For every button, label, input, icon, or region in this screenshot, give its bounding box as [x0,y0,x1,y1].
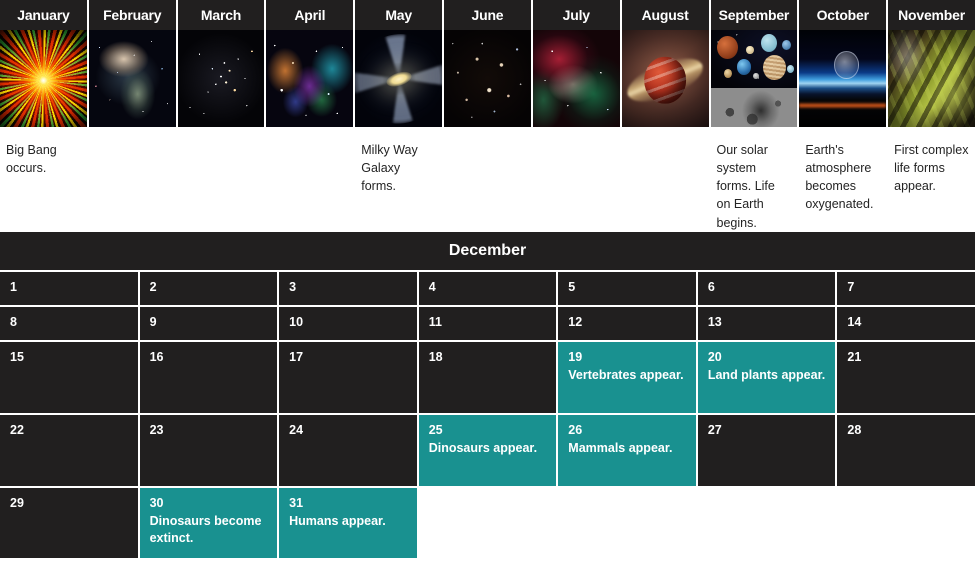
calendar-day-cell[interactable]: 9 [140,307,278,340]
calendar-day-cell[interactable]: 3 [279,272,417,305]
month-header-may: May [355,0,442,30]
calendar-day-number: 22 [10,422,129,439]
calendar-day-cell[interactable]: 12 [558,307,696,340]
calendar-day-number: 2 [150,279,269,296]
month-column-march: March [178,0,265,219]
calendar-day-cell[interactable]: 6 [698,272,836,305]
calendar-day-number: 8 [10,314,129,331]
calendar-day-number: 5 [568,279,687,296]
calendar-day-cell[interactable]: 21 [837,342,975,413]
month-column-september: September Our solar system forms. Life o… [711,0,798,219]
calendar-day-cell[interactable]: 27 [698,415,836,486]
calendar-day-number: 7 [847,279,966,296]
calendar-day-cell-event[interactable]: 30Dinosaurs become extinct. [140,488,278,558]
month-header-january: January [0,0,87,30]
solar-system-over-moon-image [711,30,798,127]
calendar-day-cell[interactable]: 2 [140,272,278,305]
calendar-day-number: 30 [150,495,269,512]
star-cluster-image [178,30,265,127]
calendar-day-number: 1 [10,279,129,296]
calendar-day-cell-event[interactable]: 25Dinosaurs appear. [419,415,557,486]
calendar-day-cell[interactable]: 14 [837,307,975,340]
month-header-june: June [444,0,531,30]
month-caption-november: First complex life forms appear. [888,127,975,219]
calendar-day-number: 31 [289,495,408,512]
calendar-day-cell[interactable]: 11 [419,307,557,340]
month-caption-may: Milky Way Galaxy forms. [355,127,442,219]
calendar-day-cell[interactable]: 29 [0,488,138,558]
deep-field-galaxies-image [444,30,531,127]
month-header-august: August [622,0,709,30]
calendar-day-number: 12 [568,314,687,331]
star-forming-nebula-image [533,30,620,127]
calendar-event-label: Mammals appear. [568,440,687,457]
month-column-january: January Big Bang occurs. [0,0,87,219]
month-column-april: April [266,0,353,219]
calendar-day-number: 6 [708,279,827,296]
ringed-gas-giant-image [622,30,709,127]
calendar-day-cell-event[interactable]: 31Humans appear. [279,488,417,558]
month-caption-october: Earth's atmosphere becomes oxygenated. [799,127,886,219]
month-caption-february [89,127,176,219]
calendar-day-cell[interactable]: 24 [279,415,417,486]
month-header-october: October [799,0,886,30]
month-caption-april [266,127,353,219]
calendar-empty-cell [837,488,975,558]
months-strip: January Big Bang occurs. February March … [0,0,975,219]
calendar-day-number: 24 [289,422,408,439]
calendar-day-cell[interactable]: 4 [419,272,557,305]
month-header-february: February [89,0,176,30]
calendar-day-cell[interactable]: 7 [837,272,975,305]
calendar-event-label: Humans appear. [289,513,408,530]
month-column-november: November First complex life forms appear… [888,0,975,219]
month-column-july: July [533,0,620,219]
calendar-day-number: 20 [708,349,827,366]
calendar-day-cell[interactable]: 13 [698,307,836,340]
calendar-day-number: 11 [429,314,548,331]
calendar-empty-cell [698,488,836,558]
algae-mossy-rock-image [888,30,975,127]
month-column-august: August [622,0,709,219]
calendar-day-number: 9 [150,314,269,331]
month-column-may: May Milky Way Galaxy forms. [355,0,442,219]
calendar-day-number: 21 [847,349,966,366]
calendar-day-cell[interactable]: 8 [0,307,138,340]
big-bang-explosion-image [0,30,87,127]
calendar-day-cell[interactable]: 5 [558,272,696,305]
calendar-day-cell[interactable]: 22 [0,415,138,486]
calendar-empty-cell [419,488,557,558]
spiral-galaxy-image [355,30,442,127]
month-caption-september: Our solar system forms. Life on Earth be… [711,127,798,219]
month-column-february: February [89,0,176,219]
month-header-september: September [711,0,798,30]
galaxy-cluster-image [266,30,353,127]
calendar-day-cell-event[interactable]: 19Vertebrates appear. [558,342,696,413]
calendar-day-number: 29 [10,495,129,512]
calendar-day-number: 16 [150,349,269,366]
month-column-october: October Earth's atmosphere becomes oxyge… [799,0,886,219]
calendar-day-number: 14 [847,314,966,331]
month-header-july: July [533,0,620,30]
calendar-day-number: 4 [429,279,548,296]
calendar-day-cell[interactable]: 17 [279,342,417,413]
calendar-day-number: 28 [847,422,966,439]
cosmic-calendar-page: January Big Bang occurs. February March … [0,0,975,577]
calendar-empty-cell [558,488,696,558]
month-caption-august [622,127,709,219]
calendar-day-cell-event[interactable]: 20Land plants appear. [698,342,836,413]
month-header-march: March [178,0,265,30]
calendar-event-label: Dinosaurs appear. [429,440,548,457]
earth-atmosphere-limb-image [799,30,886,127]
calendar-day-cell[interactable]: 23 [140,415,278,486]
calendar-day-cell[interactable]: 18 [419,342,557,413]
calendar-day-number: 26 [568,422,687,439]
calendar-day-number: 10 [289,314,408,331]
calendar-day-cell[interactable]: 15 [0,342,138,413]
month-caption-january: Big Bang occurs. [0,127,87,219]
december-calendar: December 12345678910111213141516171819Ve… [0,232,975,558]
month-caption-july [533,127,620,219]
month-caption-june [444,127,531,219]
month-caption-march [178,127,265,219]
calendar-day-number: 17 [289,349,408,366]
calendar-day-number: 13 [708,314,827,331]
calendar-day-cell[interactable]: 1 [0,272,138,305]
calendar-day-number: 15 [10,349,129,366]
december-day-grid: 12345678910111213141516171819Vertebrates… [0,270,975,558]
calendar-day-number: 25 [429,422,548,439]
calendar-day-cell-event[interactable]: 26Mammals appear. [558,415,696,486]
calendar-day-number: 23 [150,422,269,439]
calendar-day-number: 3 [289,279,408,296]
calendar-day-cell[interactable]: 28 [837,415,975,486]
calendar-day-cell[interactable]: 10 [279,307,417,340]
calendar-day-number: 19 [568,349,687,366]
calendar-day-number: 27 [708,422,827,439]
calendar-event-label: Land plants appear. [708,367,827,384]
month-header-november: November [888,0,975,30]
month-header-april: April [266,0,353,30]
month-column-june: June [444,0,531,219]
calendar-day-cell[interactable]: 16 [140,342,278,413]
december-title: December [0,232,975,270]
calendar-event-label: Vertebrates appear. [568,367,687,384]
nebula-pillar-image [89,30,176,127]
calendar-day-number: 18 [429,349,548,366]
calendar-event-label: Dinosaurs become extinct. [150,513,269,547]
